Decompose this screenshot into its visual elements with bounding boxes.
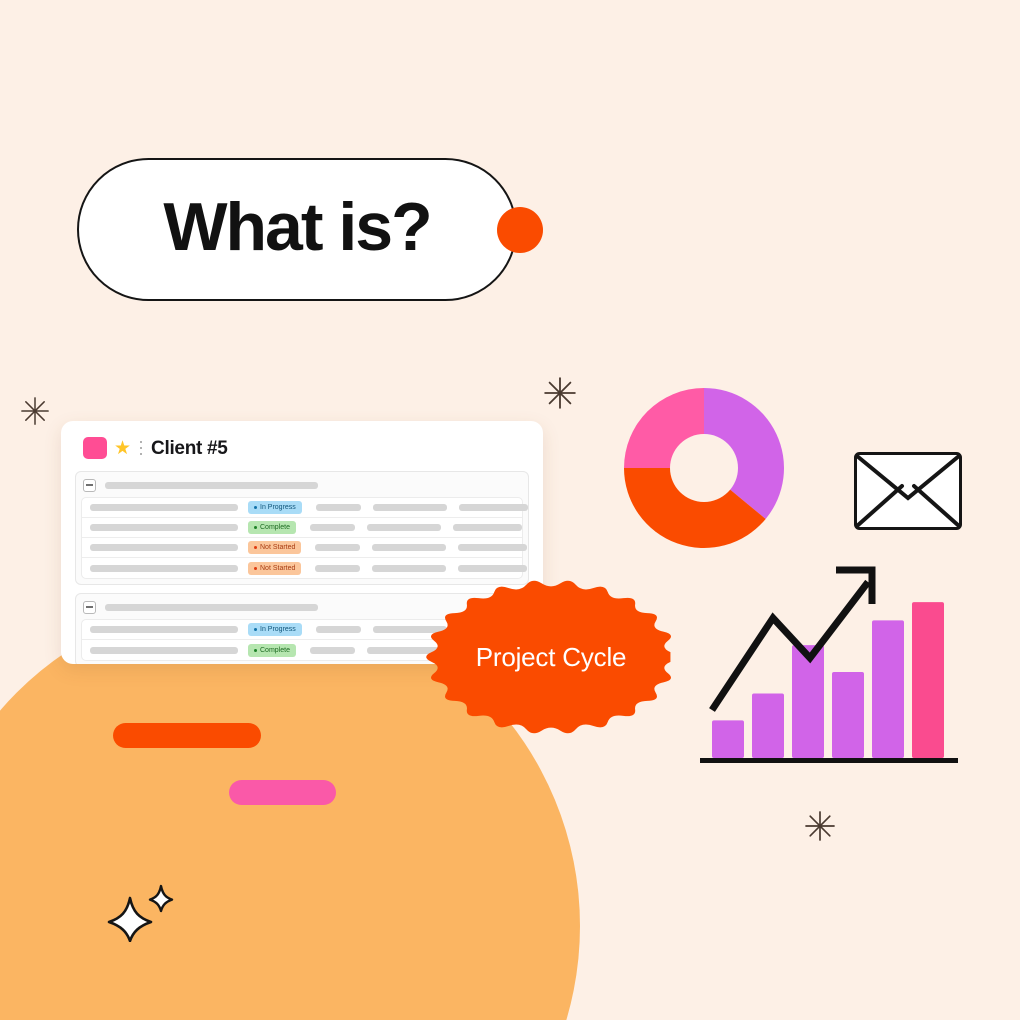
x-axis xyxy=(700,758,958,763)
task-group: In Progress Complete xyxy=(75,471,529,585)
row-cell-placeholder xyxy=(458,565,527,572)
envelope-icon xyxy=(854,452,962,530)
headline-accent-dot xyxy=(497,207,543,253)
row-name-placeholder xyxy=(90,504,238,511)
project-cycle-label: Project Cycle xyxy=(425,578,677,736)
collapse-icon[interactable] xyxy=(83,601,96,614)
asterisk-icon xyxy=(543,376,577,410)
table-row[interactable]: Not Started xyxy=(82,558,522,578)
status-dot-icon xyxy=(254,506,257,509)
orange-pill xyxy=(113,723,261,748)
status-badge[interactable]: Complete xyxy=(248,521,296,534)
color-swatch-icon[interactable] xyxy=(83,437,107,459)
row-cell-placeholder xyxy=(315,544,360,551)
row-cell-placeholder xyxy=(372,565,446,572)
table-row[interactable]: Not Started xyxy=(82,538,522,558)
status-dot-icon xyxy=(254,546,257,549)
table-row[interactable]: In Progress xyxy=(82,498,522,518)
status-dot-icon xyxy=(254,567,257,570)
headline-pill: What is? xyxy=(77,158,517,301)
status-dot-icon xyxy=(254,649,257,652)
star-icon[interactable]: ★ xyxy=(114,439,131,458)
row-name-placeholder xyxy=(90,647,238,654)
row-cell-placeholder xyxy=(315,565,360,572)
status-badge[interactable]: Not Started xyxy=(248,541,301,554)
page-title: What is? xyxy=(163,193,430,267)
bar xyxy=(752,694,784,759)
bar xyxy=(712,720,744,758)
donut-hole xyxy=(670,434,738,502)
row-cell-placeholder xyxy=(310,524,355,531)
row-cell-placeholder xyxy=(316,626,361,633)
task-row-list: In Progress Complete xyxy=(81,497,523,579)
sparkle-icon xyxy=(106,884,178,942)
status-label: Not Started xyxy=(260,565,295,572)
row-name-placeholder xyxy=(90,626,238,633)
row-cell-placeholder xyxy=(310,647,355,654)
headline-badge: What is? xyxy=(77,158,517,301)
row-name-placeholder xyxy=(90,524,238,531)
donut-chart xyxy=(622,386,786,550)
row-cell-placeholder xyxy=(372,544,446,551)
card-header: ★ Client #5 xyxy=(75,433,529,463)
row-cell-placeholder xyxy=(459,504,528,511)
poster-canvas: What is? ★ Client #5 In Progress xyxy=(0,0,1020,1020)
row-cell-placeholder xyxy=(453,524,522,531)
row-cell-placeholder xyxy=(316,504,361,511)
project-cycle-badge: Project Cycle xyxy=(425,578,677,736)
card-title: Client #5 xyxy=(151,439,228,458)
row-cell-placeholder xyxy=(373,504,447,511)
row-cell-placeholder xyxy=(458,544,527,551)
status-label: In Progress xyxy=(260,504,296,511)
bar xyxy=(872,620,904,758)
task-group-header xyxy=(81,477,523,497)
row-name-placeholder xyxy=(90,544,238,551)
status-label: In Progress xyxy=(260,626,296,633)
asterisk-icon xyxy=(20,396,50,426)
status-badge[interactable]: Not Started xyxy=(248,562,301,575)
pink-pill xyxy=(229,780,336,805)
drag-handle-icon[interactable] xyxy=(139,441,143,455)
collapse-icon[interactable] xyxy=(83,479,96,492)
status-label: Not Started xyxy=(260,544,295,551)
bar xyxy=(832,672,864,758)
status-dot-icon xyxy=(254,526,257,529)
asterisk-icon xyxy=(804,810,836,842)
bar xyxy=(792,645,824,758)
group-title-placeholder xyxy=(105,482,318,489)
status-badge[interactable]: In Progress xyxy=(248,501,302,514)
table-row[interactable]: Complete xyxy=(82,518,522,538)
status-label: Complete xyxy=(260,647,290,654)
group-title-placeholder xyxy=(105,604,318,611)
status-badge[interactable]: Complete xyxy=(248,644,296,657)
bar-chart xyxy=(700,558,962,773)
status-badge[interactable]: In Progress xyxy=(248,623,302,636)
status-label: Complete xyxy=(260,524,290,531)
row-cell-placeholder xyxy=(367,524,441,531)
row-name-placeholder xyxy=(90,565,238,572)
status-dot-icon xyxy=(254,628,257,631)
bar xyxy=(912,602,944,758)
